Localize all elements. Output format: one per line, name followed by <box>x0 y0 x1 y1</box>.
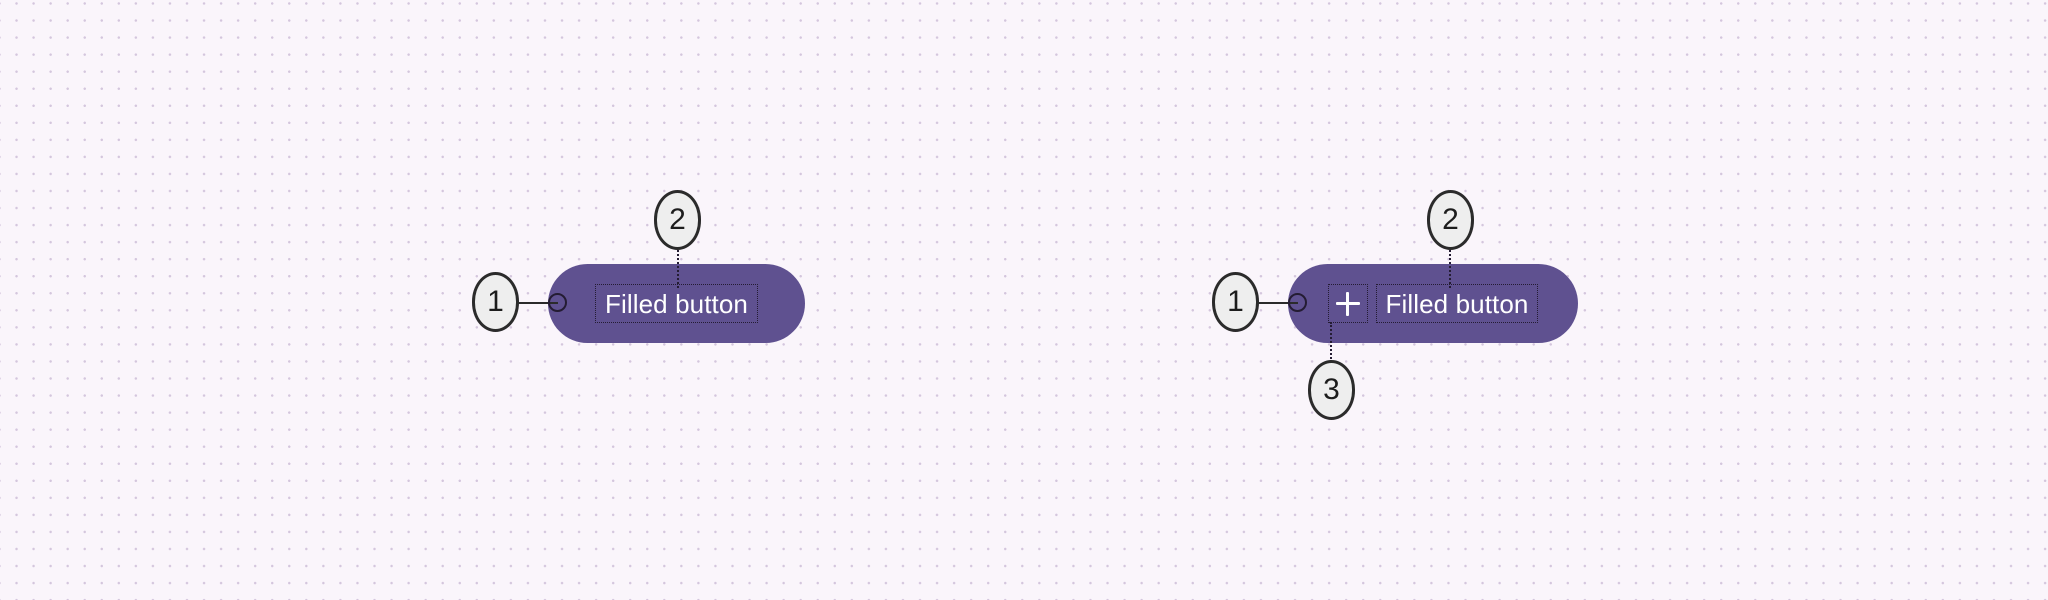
button-icon-measure-box <box>1328 284 1368 323</box>
callout-badge-1[interactable]: 1 <box>1212 272 1259 332</box>
callout-2-connector <box>1449 246 1451 288</box>
callout-1-anchor-point <box>1288 293 1307 312</box>
callout-2-connector <box>677 246 679 288</box>
specimen-filled-button-icon-and-label: 2 1 3 Filled button <box>0 0 2048 600</box>
callout-badge-1[interactable]: 1 <box>472 272 519 332</box>
plus-icon <box>1336 292 1360 316</box>
callout-badge-3[interactable]: 3 <box>1308 360 1355 420</box>
annotation-canvas: 2 1 Filled button 2 1 3 Filled button <box>0 0 2048 600</box>
button-label-measure-box: Filled button <box>1376 284 1539 323</box>
button-label: Filled button <box>1386 291 1529 317</box>
callout-badge-2[interactable]: 2 <box>654 190 701 250</box>
callout-1-anchor-point <box>548 293 567 312</box>
callout-badge-2[interactable]: 2 <box>1427 190 1474 250</box>
callout-3-connector <box>1330 322 1332 362</box>
